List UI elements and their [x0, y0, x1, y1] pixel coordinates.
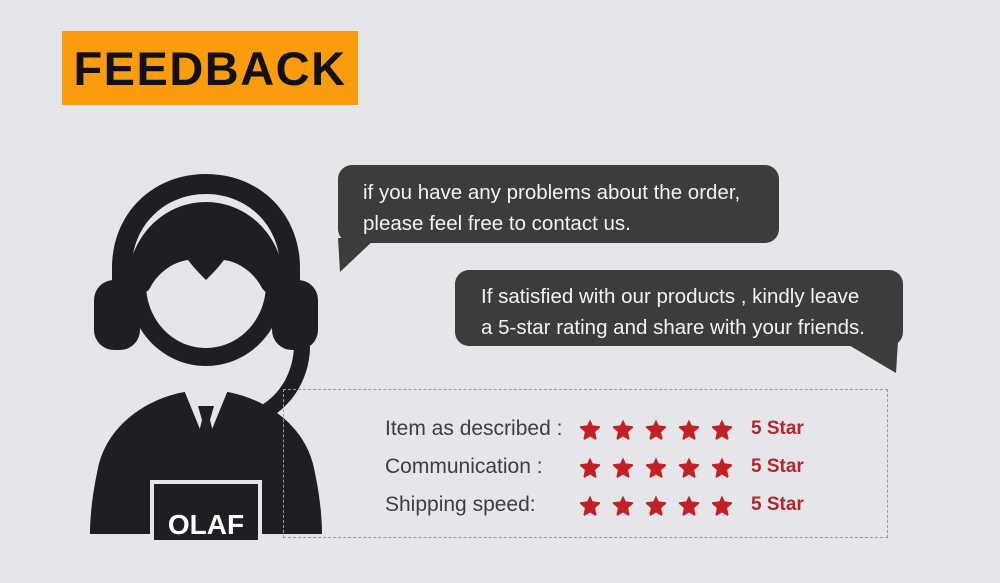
rating-label-communication: Communication : — [385, 455, 543, 479]
star-icon — [678, 456, 700, 478]
speech-bubble-primary-text: if you have any problems about the order… — [363, 181, 740, 235]
star-icon — [645, 456, 667, 478]
star-icon — [645, 494, 667, 516]
speech-bubble-secondary-tail — [842, 341, 900, 375]
rating-stars-item-as-described — [579, 418, 733, 440]
rating-label-item-as-described: Item as described : — [385, 417, 562, 441]
rating-stars-shipping-speed — [579, 494, 733, 516]
star-icon — [612, 456, 634, 478]
star-icon — [711, 418, 733, 440]
star-icon — [612, 494, 634, 516]
feedback-banner: FEEDBACK — [62, 31, 358, 105]
ratings-panel: Item as described : 5 Star Communication… — [283, 389, 888, 538]
laptop-screen-label: OLAF — [168, 509, 244, 540]
star-icon — [711, 456, 733, 478]
star-icon — [579, 418, 601, 440]
star-icon — [678, 418, 700, 440]
rating-row: Communication : 5 Star — [284, 448, 887, 486]
star-icon — [612, 418, 634, 440]
star-icon — [711, 494, 733, 516]
rating-stars-communication — [579, 456, 733, 478]
rating-row: Shipping speed: 5 Star — [284, 486, 887, 524]
rating-value-item-as-described: 5 Star — [751, 418, 804, 440]
rating-label-shipping-speed: Shipping speed: — [385, 493, 536, 517]
feedback-banner-image: FEEDBACK — [0, 0, 1000, 583]
speech-bubble-primary: if you have any problems about the order… — [338, 165, 779, 243]
speech-bubble-primary-tail — [338, 238, 378, 274]
star-icon — [645, 418, 667, 440]
star-icon — [678, 494, 700, 516]
star-icon — [579, 494, 601, 516]
speech-bubble-secondary-text: If satisfied with our products , kindly … — [481, 285, 865, 339]
feedback-title: FEEDBACK — [73, 45, 346, 92]
rating-value-shipping-speed: 5 Star — [751, 494, 804, 516]
rating-value-communication: 5 Star — [751, 456, 804, 478]
speech-bubble-secondary: If satisfied with our products , kindly … — [455, 270, 903, 346]
star-icon — [579, 456, 601, 478]
rating-row: Item as described : 5 Star — [284, 410, 887, 448]
